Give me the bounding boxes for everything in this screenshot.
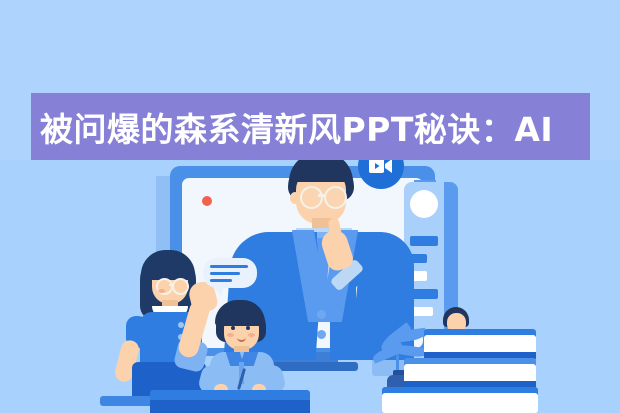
page-title: 被问爆的森系清新风PPT秘诀：AI xyxy=(31,93,590,160)
speech-bubble-line xyxy=(210,272,240,275)
speech-bubble-line xyxy=(210,265,248,268)
illustration xyxy=(0,0,620,413)
desk-front xyxy=(150,400,310,413)
boy-cheek xyxy=(227,333,234,337)
glasses-icon xyxy=(172,278,189,295)
boy-eye xyxy=(246,326,250,330)
panel-bar xyxy=(410,236,438,246)
book-pages xyxy=(382,393,538,413)
glasses-icon xyxy=(324,186,347,209)
title-banner: 被问爆的森系清新风PPT秘诀：AI xyxy=(31,93,590,160)
woman-cheek xyxy=(158,289,165,293)
teacher-button xyxy=(317,310,326,319)
boy-cheek xyxy=(248,333,255,337)
avatar xyxy=(410,190,438,218)
thumbnail-canvas: 被问爆的森系清新风PPT秘诀：AI xyxy=(0,0,620,413)
teacher-button xyxy=(317,330,326,339)
glasses-bridge xyxy=(169,284,173,286)
panel-bar xyxy=(410,289,438,299)
teacher-ear xyxy=(290,192,300,204)
glasses-icon xyxy=(300,186,323,209)
boy-eye xyxy=(231,326,235,330)
speech-bubble-line xyxy=(210,279,232,282)
glasses-bridge xyxy=(318,194,326,197)
close-dot-icon xyxy=(202,196,212,206)
